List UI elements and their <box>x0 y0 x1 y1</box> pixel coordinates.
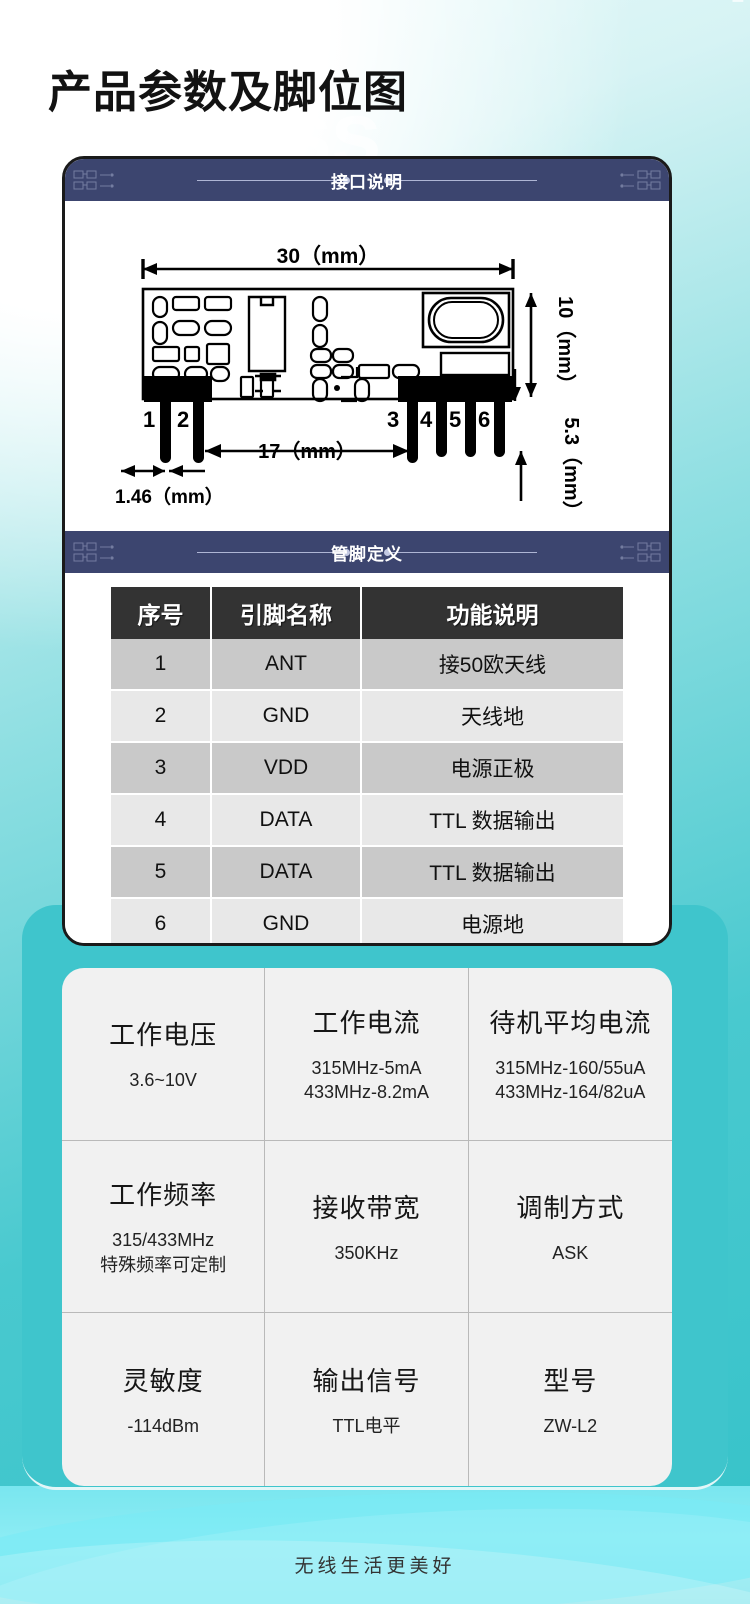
cell-pin-name: GND <box>211 898 361 946</box>
spec-cell-model: 型号 ZW-L2 <box>469 1313 672 1486</box>
dimension-pin-span-label: 17（mm） <box>258 440 356 463</box>
page-title: 产品参数及脚位图 <box>48 56 408 120</box>
spec-value: TTL电平 <box>332 1414 400 1439</box>
spec-label: 型号 <box>543 1361 597 1398</box>
table-row: 1 ANT 接50欧天线 <box>111 639 623 690</box>
spec-label: 灵敏度 <box>123 1361 204 1398</box>
cell-function: TTL 数据输出 <box>361 794 623 846</box>
cell-function: 电源地 <box>361 898 623 946</box>
spec-value: 315/433MHz 特殊频率可定制 <box>100 1228 226 1278</box>
spec-label: 工作频率 <box>109 1175 217 1212</box>
pin-number-3: 3 <box>387 407 399 432</box>
circuit-pattern-icon <box>71 539 117 565</box>
pin-number-4: 4 <box>420 407 433 432</box>
spec-value: 315MHz-160/55uA 433MHz-164/82uA <box>495 1056 645 1106</box>
table-row: 6 GND 电源地 <box>111 898 623 946</box>
spec-value: -114dBm <box>127 1414 199 1439</box>
cell-index: 1 <box>111 639 211 690</box>
spec-cell-sensitivity: 灵敏度 -114dBm <box>62 1313 265 1486</box>
section-header-pinout-label: 管脚定义 <box>317 540 417 565</box>
spec-value: 315MHz-5mA 433MHz-8.2mA <box>304 1056 429 1106</box>
circuit-pattern-icon <box>617 539 663 565</box>
th-index: 序号 <box>111 587 211 639</box>
cell-index: 3 <box>111 742 211 794</box>
table-header-row: 序号 引脚名称 功能说明 <box>111 587 623 639</box>
pin-number-1: 1 <box>143 407 155 432</box>
dimension-pin-length-label: 5.3（mm） <box>560 417 583 520</box>
spec-cell-modulation: 调制方式 ASK <box>469 1141 672 1314</box>
spec-label: 接收带宽 <box>312 1188 420 1225</box>
dimension-height-label: 10（mm） <box>554 296 577 394</box>
wave-stripe <box>0 1486 750 1604</box>
spec-cell-working-current: 工作电流 315MHz-5mA 433MHz-8.2mA <box>265 968 468 1141</box>
cell-pin-name: GND <box>211 690 361 742</box>
cell-pin-name: DATA <box>211 794 361 846</box>
spec-value: ZW-L2 <box>543 1414 597 1439</box>
cell-function: TTL 数据输出 <box>361 846 623 898</box>
footer-slogan: 无线生活更美好 <box>0 1551 750 1578</box>
pcb-dimension-drawing: 30（mm） 17（mm） 1.46（mm） 10（mm） 5.3（mm） 1 … <box>65 201 669 531</box>
cell-function: 接50欧天线 <box>361 639 623 690</box>
cell-pin-name: VDD <box>211 742 361 794</box>
circuit-pattern-icon <box>71 167 117 193</box>
product-spec-card: 接口说明 <box>62 156 672 946</box>
pin-number-2: 2 <box>177 407 189 432</box>
footer-wave-decoration <box>0 1486 750 1604</box>
specification-grid: 工作电压 3.6~10V 工作电流 315MHz-5mA 433MHz-8.2m… <box>62 968 672 1486</box>
dimension-pin-pitch-label: 1.46（mm） <box>115 485 224 508</box>
table-row: 5 DATA TTL 数据输出 <box>111 846 623 898</box>
cell-function: 电源正极 <box>361 742 623 794</box>
pin-table-wrapper: 序号 引脚名称 功能说明 1 ANT 接50欧天线 2 GND 天线地 3 <box>65 573 669 946</box>
table-row: 2 GND 天线地 <box>111 690 623 742</box>
pin-number-6: 6 <box>478 407 490 432</box>
th-function: 功能说明 <box>361 587 623 639</box>
cell-index: 4 <box>111 794 211 846</box>
spec-label: 工作电压 <box>109 1015 217 1052</box>
pcb-diagram-svg: 30（mm） 17（mm） 1.46（mm） 10（mm） 5.3（mm） 1 … <box>65 201 672 531</box>
cell-index: 2 <box>111 690 211 742</box>
pin-definition-table: 序号 引脚名称 功能说明 1 ANT 接50欧天线 2 GND 天线地 3 <box>111 587 623 946</box>
cell-index: 6 <box>111 898 211 946</box>
spec-value: ASK <box>552 1241 588 1266</box>
cell-pin-name: ANT <box>211 639 361 690</box>
spec-label: 输出信号 <box>312 1361 420 1398</box>
circuit-pattern-icon <box>617 167 663 193</box>
section-header-interface-label: 接口说明 <box>317 168 417 193</box>
cell-pin-name: DATA <box>211 846 361 898</box>
section-header-interface: 接口说明 <box>65 159 669 201</box>
spec-cell-working-voltage: 工作电压 3.6~10V <box>62 968 265 1141</box>
watermark-right-text: ZW-L2 <box>715 0 750 8</box>
cell-function: 天线地 <box>361 690 623 742</box>
spec-value: 3.6~10V <box>129 1068 197 1093</box>
spec-cell-frequency: 工作频率 315/433MHz 特殊频率可定制 <box>62 1141 265 1314</box>
spec-value: 350KHz <box>334 1241 398 1266</box>
spec-label: 工作电流 <box>312 1003 420 1040</box>
table-row: 3 VDD 电源正极 <box>111 742 623 794</box>
pin-number-5: 5 <box>449 407 461 432</box>
spec-cell-bandwidth: 接收带宽 350KHz <box>265 1141 468 1314</box>
spec-cell-standby-current: 待机平均电流 315MHz-160/55uA 433MHz-164/82uA <box>469 968 672 1141</box>
cell-index: 5 <box>111 846 211 898</box>
section-header-pinout: 管脚定义 <box>65 531 669 573</box>
spec-label: 待机平均电流 <box>489 1003 651 1040</box>
dimension-width-label: 30（mm） <box>277 244 380 268</box>
spec-cell-output-signal: 输出信号 TTL电平 <box>265 1313 468 1486</box>
spec-label: 调制方式 <box>516 1188 624 1225</box>
th-pin-name: 引脚名称 <box>211 587 361 639</box>
table-row: 4 DATA TTL 数据输出 <box>111 794 623 846</box>
